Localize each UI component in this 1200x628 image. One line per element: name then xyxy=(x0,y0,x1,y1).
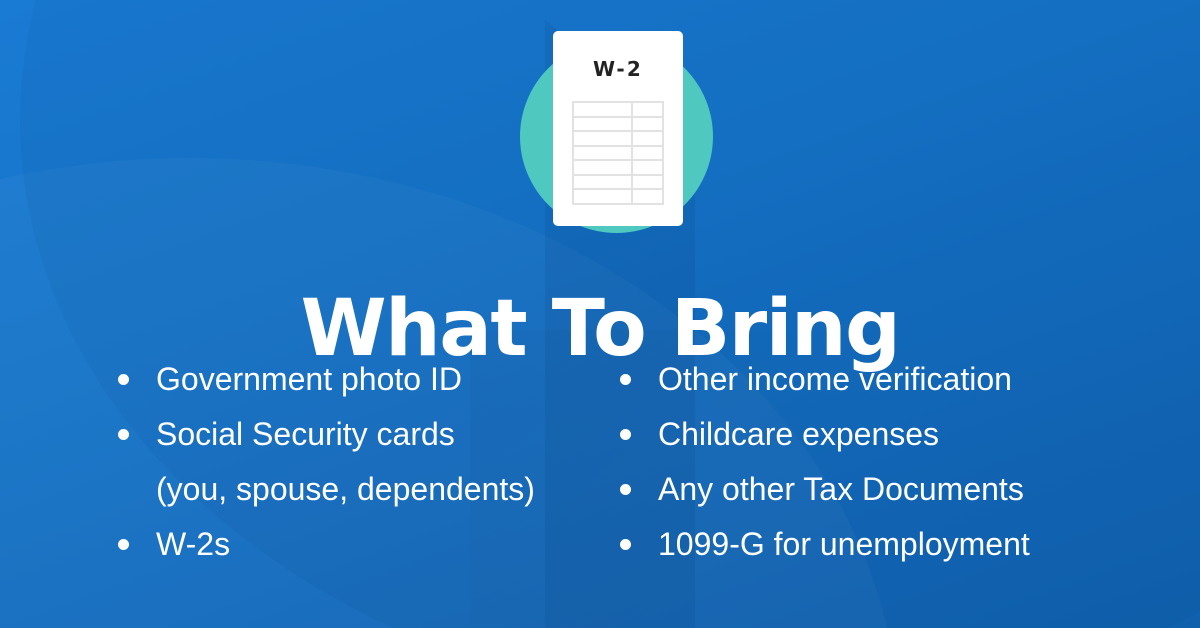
bullet-dot-icon xyxy=(118,429,129,440)
w2-grid-row xyxy=(573,102,663,117)
list-item: Any other Tax Documents xyxy=(620,462,1200,517)
list-item-continuation: (you, spouse, dependents) xyxy=(118,462,600,517)
list-item-label: 1099-G for unemployment xyxy=(658,517,1030,572)
list-item-label: Social Security cards xyxy=(156,407,455,462)
list-item-label: W-2s xyxy=(156,517,230,572)
bullet-dot-icon xyxy=(118,374,129,385)
poster-canvas: W-2 What To Bring Government photo ID xyxy=(0,0,1200,628)
checklist-columns: Government photo ID Social Security card… xyxy=(0,352,1200,582)
checklist-right-list: Other income verification Childcare expe… xyxy=(620,352,1200,572)
bullet-dot-icon-placeholder xyxy=(118,484,129,495)
list-item: Childcare expenses xyxy=(620,407,1200,462)
checklist-column-right: Other income verification Childcare expe… xyxy=(600,352,1200,582)
bullet-dot-icon xyxy=(118,539,129,550)
bullet-dot-icon xyxy=(620,374,631,385)
w2-grid-row xyxy=(573,189,663,204)
w2-grid-row xyxy=(573,175,663,190)
list-item-label: Government photo ID xyxy=(156,352,462,407)
list-item: 1099-G for unemployment xyxy=(620,517,1200,572)
list-item: Other income verification xyxy=(620,352,1200,407)
list-item-label: Childcare expenses xyxy=(658,407,939,462)
list-item: W-2s xyxy=(118,517,600,572)
bullet-dot-icon xyxy=(620,429,631,440)
w2-grid-row xyxy=(573,117,663,132)
w2-grid-row xyxy=(573,146,663,161)
bullet-dot-icon xyxy=(620,539,631,550)
w2-document-label: W-2 xyxy=(553,57,683,81)
checklist-left-list: Government photo ID Social Security card… xyxy=(118,352,600,572)
list-item-label: Other income verification xyxy=(658,352,1012,407)
checklist-column-left: Government photo ID Social Security card… xyxy=(0,352,600,582)
hero-icon-group: W-2 xyxy=(0,0,1200,240)
list-item: Government photo ID xyxy=(118,352,600,407)
bullet-dot-icon xyxy=(620,484,631,495)
w2-document-card: W-2 xyxy=(553,31,683,226)
list-item-label: (you, spouse, dependents) xyxy=(156,462,535,517)
list-item-label: Any other Tax Documents xyxy=(658,462,1024,517)
w2-grid-row xyxy=(573,160,663,175)
w2-grid-row xyxy=(573,131,663,146)
list-item: Social Security cards xyxy=(118,407,600,462)
w2-form-grid xyxy=(572,101,664,205)
